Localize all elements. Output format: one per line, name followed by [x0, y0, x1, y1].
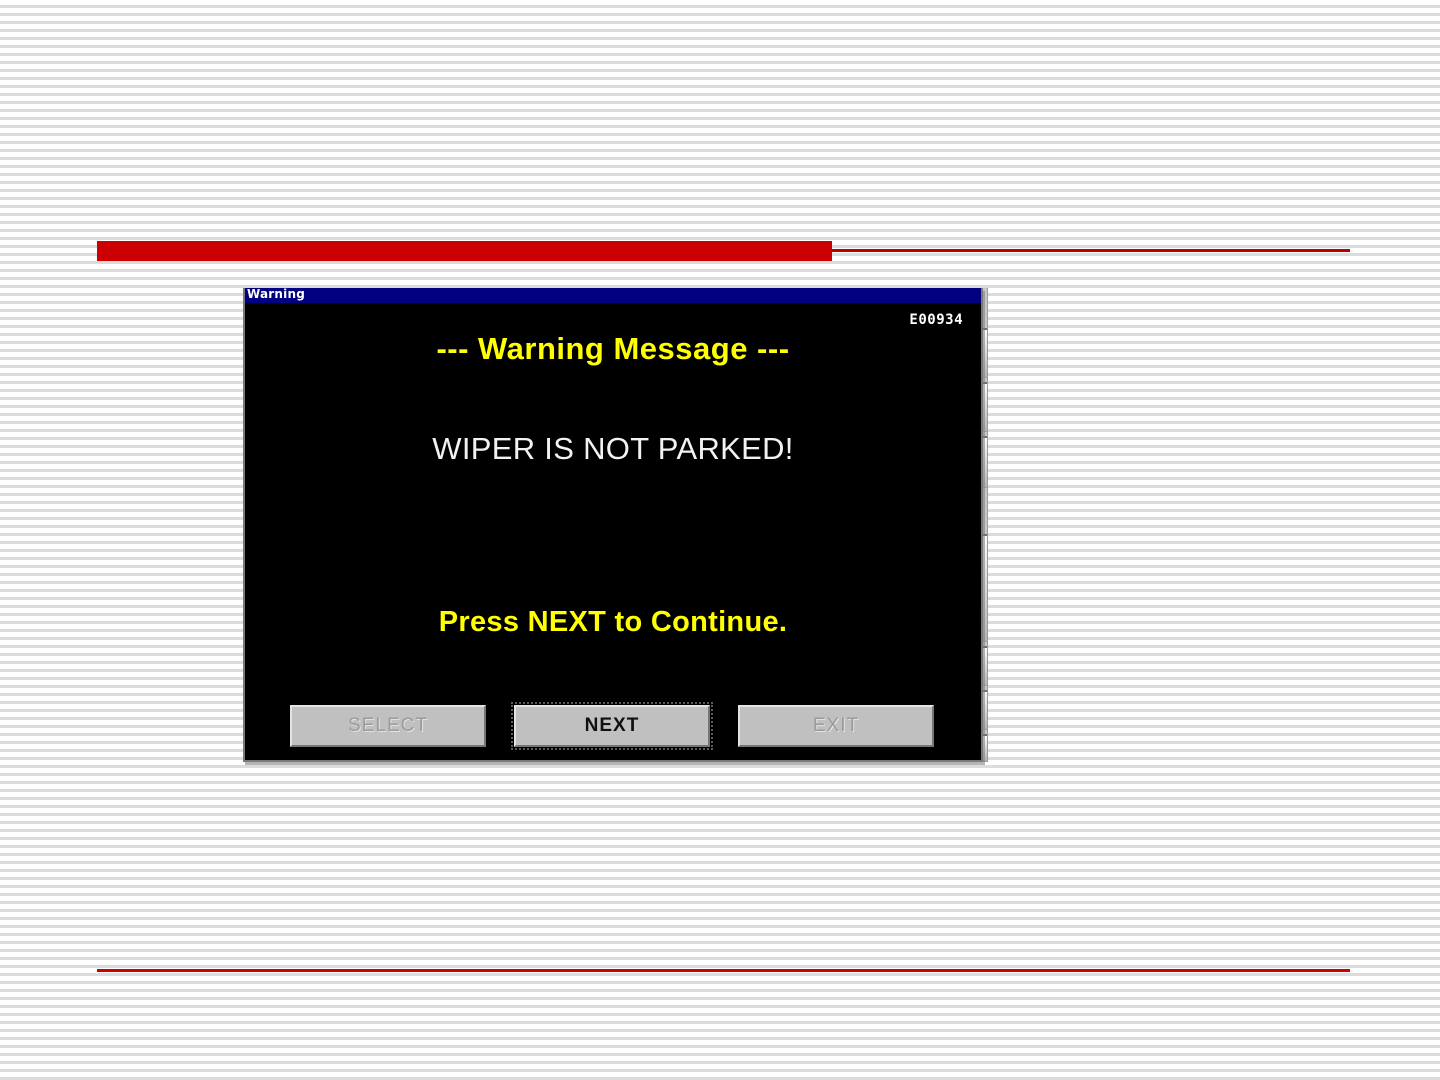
- slide-canvas: Warning E00934 --- Warning Message --- W…: [0, 0, 1440, 1080]
- exit-button[interactable]: EXIT: [738, 705, 934, 747]
- accent-rule-top: [832, 249, 1350, 252]
- accent-rule-bottom: [97, 969, 1350, 972]
- warning-prompt-text: Press NEXT to Continue.: [245, 606, 981, 639]
- dialog-screen: E00934 --- Warning Message --- WIPER IS …: [245, 303, 981, 760]
- warning-title-text: --- Warning Message ---: [245, 331, 981, 367]
- select-button[interactable]: SELECT: [290, 705, 486, 747]
- warning-message-text: WIPER IS NOT PARKED!: [245, 431, 981, 467]
- dialog-title-label: Warning: [247, 288, 305, 302]
- next-button[interactable]: NEXT: [514, 705, 710, 747]
- accent-bar-thick: [97, 241, 832, 261]
- softkey-button-row: SELECT NEXT EXIT: [245, 705, 981, 747]
- dialog-titlebar[interactable]: Warning: [245, 288, 981, 303]
- error-code-label: E00934: [909, 312, 963, 328]
- warning-dialog: Warning E00934 --- Warning Message --- W…: [243, 288, 983, 762]
